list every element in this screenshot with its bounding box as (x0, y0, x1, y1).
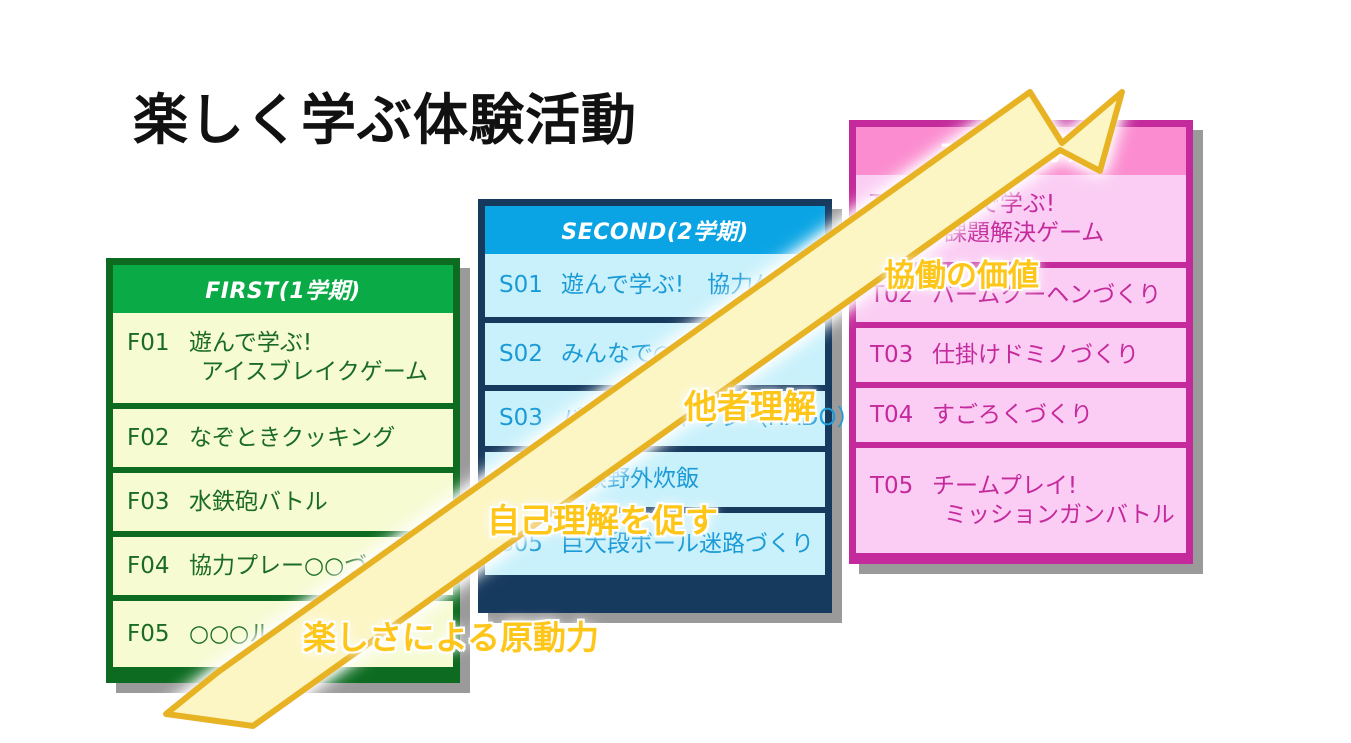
row-code: F02 (127, 424, 189, 453)
annotation-collaboration-value: 協働の価値 (884, 250, 1039, 295)
row-code: T01 (870, 190, 932, 219)
annotation-self-understanding: 自己理解を促す (487, 494, 718, 542)
row-code: S03 (499, 404, 561, 433)
row-code: F01 (127, 329, 189, 358)
panel-first-header: FIRST(1学期) (113, 265, 453, 313)
row-label: チームプレイ! (932, 472, 1077, 501)
row-label: なぞときクッキング (189, 424, 395, 453)
row-code: F04 (127, 552, 189, 581)
row-code: F05 (127, 620, 189, 649)
row-label: すごろくづくり (932, 401, 1093, 430)
row-label: 本験野外炊飯 (561, 465, 699, 494)
panel-third-rows: T01遊んで学ぶ! 課題解決ゲーム T02 バームクーヘンづくり T03 仕掛け… (856, 175, 1186, 553)
row-label: 遊んで学ぶ! 協力ゲーム (561, 271, 821, 300)
table-row[interactable]: F02 なぞときクッキング (113, 409, 453, 473)
row-code: S04 (499, 465, 561, 494)
list-item: T05チームプレイ! (870, 472, 1077, 501)
panel-second-header: SECOND(2学期) (485, 206, 825, 254)
list-item: F01遊んで学ぶ! (127, 329, 312, 358)
row-label: みんなで○○○ (561, 340, 713, 369)
row-label: 協力プレー○○づくり (189, 552, 413, 581)
row-label-secondary: 課題解決ゲーム (944, 219, 1104, 248)
row-label-secondary: アイスブレイクゲーム (201, 358, 428, 387)
row-label-secondary: ミッションガンバトル (944, 501, 1175, 530)
row-code: F03 (127, 488, 189, 517)
row-label: 遊んで学ぶ! (189, 329, 312, 358)
panel-third-header: THIRD(3学期) (856, 127, 1186, 175)
table-row[interactable]: T05チームプレイ! ミッションガンバトル (856, 448, 1186, 553)
annotation-drive: 楽しさによる原動力 (303, 611, 599, 659)
list-item: T01遊んで学ぶ! (870, 190, 1055, 219)
table-row[interactable]: S01 遊んで学ぶ! 協力ゲーム (485, 254, 825, 323)
row-label: 水鉄砲バトル (189, 488, 328, 517)
row-code: T04 (870, 401, 932, 430)
row-code: T05 (870, 472, 932, 501)
table-row[interactable]: T04 すごろくづくり (856, 388, 1186, 448)
row-code: S02 (499, 340, 561, 369)
row-label: 仕掛けドミノづくり (932, 341, 1139, 370)
row-label: 遊んで学ぶ! (932, 190, 1055, 219)
table-row[interactable]: F01遊んで学ぶ! アイスブレイクゲーム (113, 313, 453, 409)
table-row[interactable]: F04 協力プレー○○づくり (113, 537, 453, 601)
annotation-other-understanding: 他者理解 (684, 380, 816, 428)
page-title: 楽しく学ぶ体験活動 (133, 93, 637, 148)
table-row[interactable]: T03 仕掛けドミノづくり (856, 328, 1186, 388)
table-row[interactable]: F03 水鉄砲バトル (113, 473, 453, 537)
panel-third-term[interactable]: THIRD(3学期) T01遊んで学ぶ! 課題解決ゲーム T02 バームクーヘン… (849, 120, 1193, 564)
row-code: T03 (870, 341, 932, 370)
slide-canvas: 楽しく学ぶ体験活動 FIRST(1学期) F01遊んで学ぶ! アイスブレイクゲー… (0, 0, 1351, 743)
row-code: S01 (499, 271, 561, 300)
row-label: ○○○ルド (189, 620, 295, 649)
